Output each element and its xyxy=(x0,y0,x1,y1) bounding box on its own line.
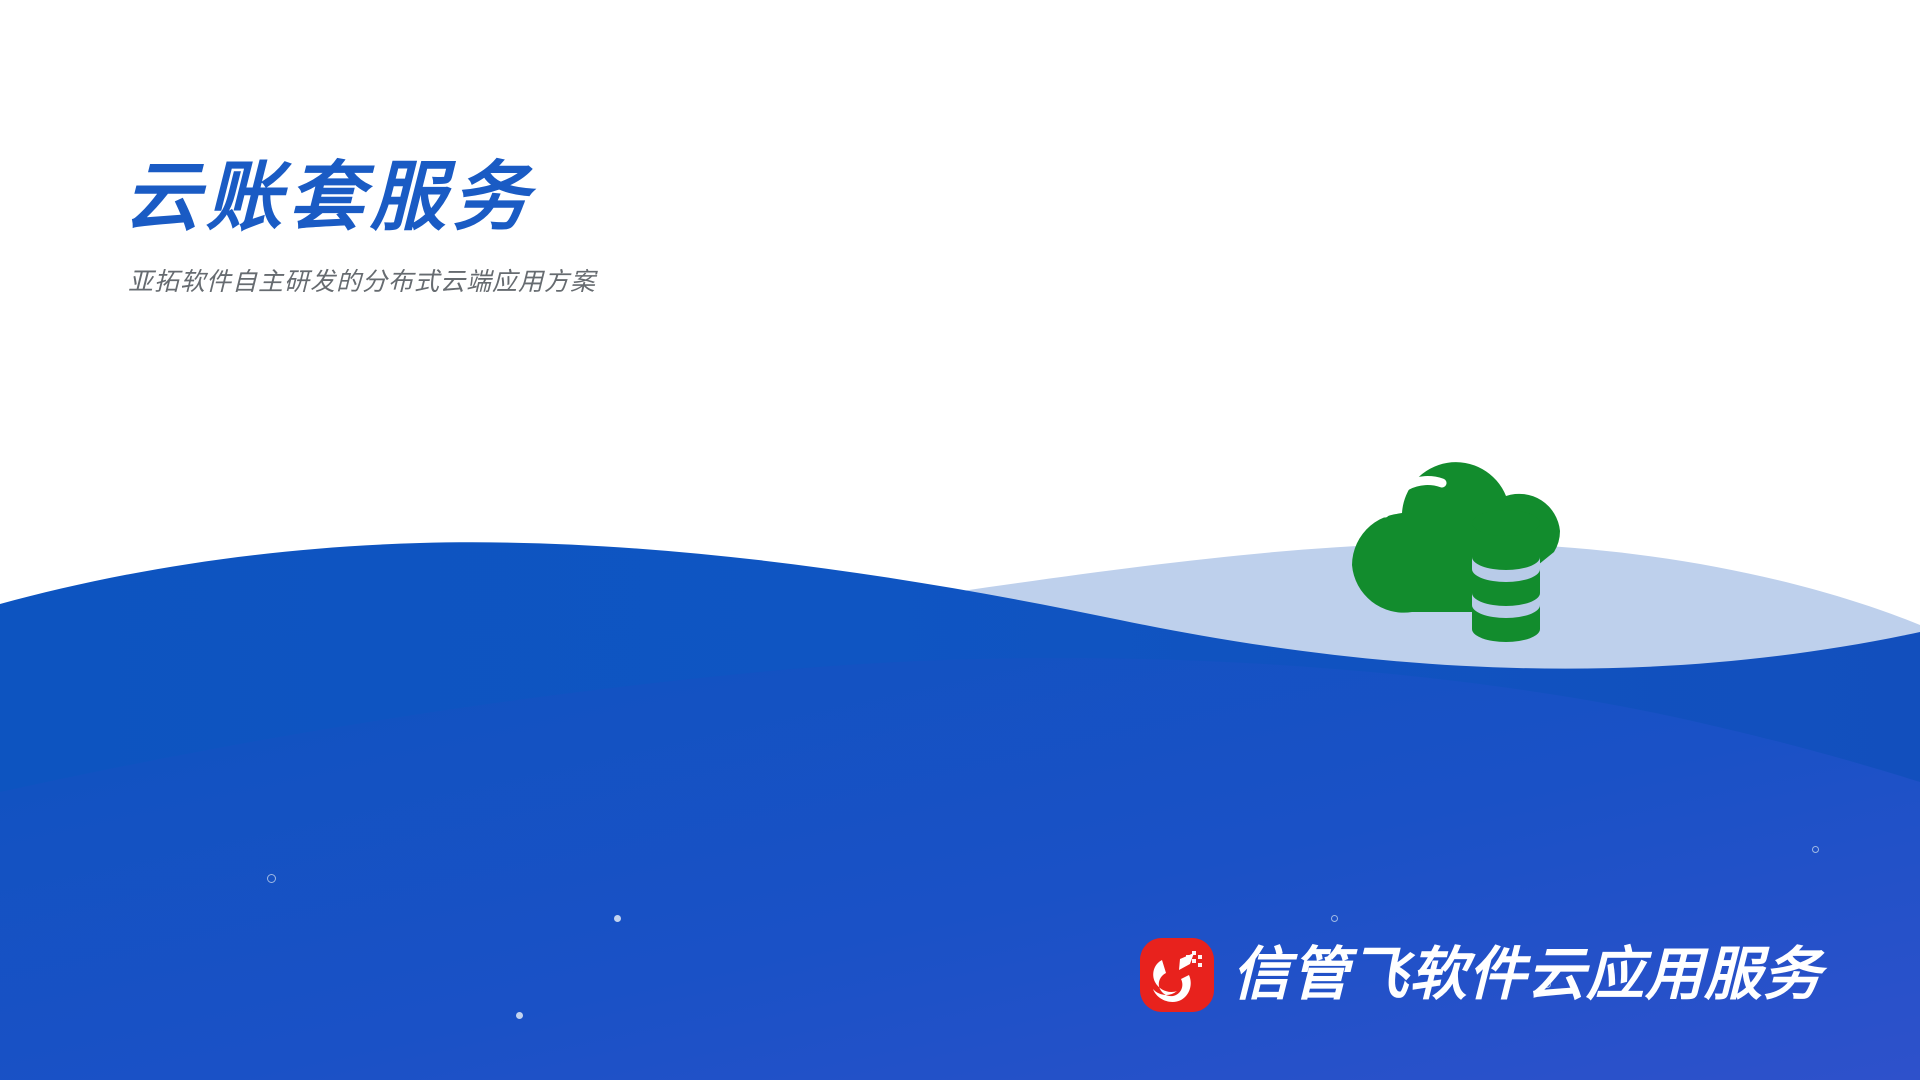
deco-dot-4 xyxy=(1331,915,1338,922)
brand-name: 信管飞软件云应用服务 xyxy=(1232,946,1822,1004)
wave-bottom-field xyxy=(0,658,1920,1080)
deco-dot-3 xyxy=(516,1012,523,1019)
cloud-database-svg xyxy=(1330,430,1630,660)
cloud-icon xyxy=(1352,462,1560,612)
deco-dot-5 xyxy=(1812,846,1819,853)
page-title: 云账套服务 xyxy=(124,160,1024,236)
page-subtitle: 亚拓软件自主研发的分布式云端应用方案 xyxy=(128,262,1024,298)
brand-lockup: 信管飞软件云应用服务 xyxy=(1140,938,1822,1012)
brand-logo-svg xyxy=(1140,938,1214,1012)
deco-dot-1 xyxy=(267,874,276,883)
deco-dot-2 xyxy=(614,915,621,922)
cloud-database-illustration xyxy=(1330,430,1630,660)
xinguanfei-bird-logo-icon xyxy=(1140,938,1214,1012)
headline-block: 云账套服务 亚拓软件自主研发的分布式云端应用方案 xyxy=(124,160,1024,298)
cloud-highlight-arc xyxy=(1385,481,1442,513)
banner-stage: 云账套服务 亚拓软件自主研发的分布式云端应用方案 xyxy=(0,0,1920,1080)
database-cylinder-icon xyxy=(1468,503,1540,649)
